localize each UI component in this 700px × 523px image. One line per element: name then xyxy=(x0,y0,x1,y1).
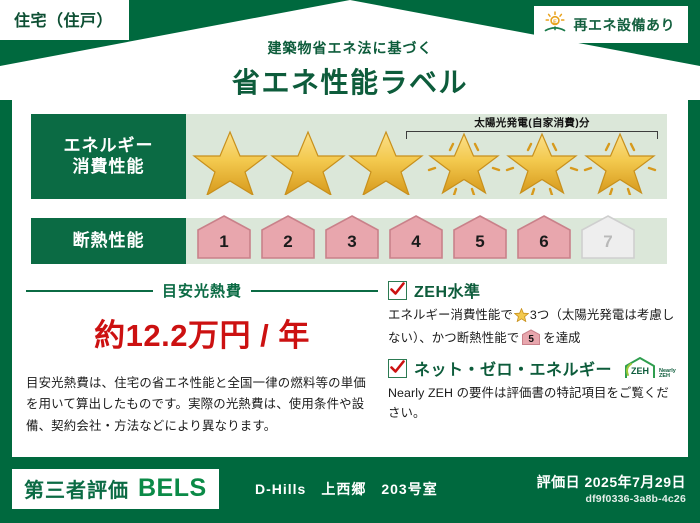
insulation-level-badge: 1 xyxy=(194,212,254,264)
bels-jp-label: 第三者評価 xyxy=(24,474,129,503)
energy-label-line2: 消費性能 xyxy=(73,157,145,178)
zeh-logo-sub2: ZEH xyxy=(659,373,670,379)
zeh-standard-header: ZEH水準 xyxy=(388,278,676,302)
net-zero-energy-body: Nearly ZEH の要件は評価書の特記項目をご覧ください。 xyxy=(388,383,676,423)
energy-label-line1: エネルギー xyxy=(64,136,154,157)
house-badge-icon-inline: 5 xyxy=(521,329,541,346)
zeh-body-part1: エネルギー消費性能で xyxy=(388,308,513,322)
svg-text:ZEH: ZEH xyxy=(631,366,649,376)
checkmark-icon xyxy=(388,281,407,300)
energy-star-track: 太陽光発電(自家消費)分 xyxy=(186,114,667,199)
star-icon xyxy=(348,125,426,197)
insulation-level-badge: 2 xyxy=(258,212,318,264)
energy-cost-column: 目安光熱費 約12.2万円 / 年 目安光熱費は、住宅の省エネ性能と全国一律の燃… xyxy=(26,278,378,437)
energy-performance-label: エネルギー 消費性能 xyxy=(31,114,186,199)
renewable-equipment-badge: E 再エネ設備あり xyxy=(534,6,689,43)
zeh-body-house-level: 5 xyxy=(521,332,541,348)
insulation-level-value: 1 xyxy=(194,232,254,252)
zeh-logo-subtext: Nearly ZEH xyxy=(659,369,676,381)
bels-certification-box: 第三者評価 BELS xyxy=(12,469,219,509)
insulation-performance-label: 断熱性能 xyxy=(31,218,186,264)
zeh-body-part3: を達成 xyxy=(543,331,580,345)
energy-cost-heading-text: 目安光熱費 xyxy=(162,280,242,301)
star-icon-solar xyxy=(504,125,582,197)
evaluation-date: 評価日 2025年7月29日 xyxy=(537,472,686,492)
energy-performance-row: エネルギー 消費性能 太陽光発電(自家消費)分 xyxy=(31,114,667,199)
insulation-level-value: 6 xyxy=(514,232,574,252)
zeh-standard-body: エネルギー消費性能で3つ（太陽光発電は考慮しない）、かつ断熱性能で5を達成 xyxy=(388,305,676,348)
insulation-levels: 1 2 3 4 5 xyxy=(194,212,638,264)
insulation-performance-row: 断熱性能 1 2 3 xyxy=(31,218,667,264)
insulation-level-value: 4 xyxy=(386,232,446,252)
zeh-standard-title: ZEH水準 xyxy=(414,278,481,302)
star-icon xyxy=(270,125,348,197)
insulation-level-track: 1 2 3 4 5 xyxy=(186,218,667,264)
certification-column: ZEH水準 エネルギー消費性能で3つ（太陽光発電は考慮しない）、かつ断熱性能で5… xyxy=(388,278,676,431)
building-name: D-Hills 上西郷 203号室 xyxy=(255,479,438,499)
svg-text:E: E xyxy=(553,19,557,25)
insulation-level-value: 7 xyxy=(578,232,638,252)
renewable-badge-label: 再エネ設備あり xyxy=(574,15,676,35)
label-title-block: 建築物省エネ法に基づく 省エネ性能ラベル xyxy=(0,38,700,101)
energy-cost-note: 目安光熱費は、住宅の省エネ性能と全国一律の燃料等の単価を用いて算出したものです。… xyxy=(26,373,378,437)
star-icon-inline xyxy=(514,308,529,328)
evaluation-id: df9f0336-3a8b-4c26 xyxy=(586,493,687,505)
net-zero-energy-title: ネット・ゼロ・エネルギー xyxy=(414,356,612,380)
details-section: 目安光熱費 約12.2万円 / 年 目安光熱費は、住宅の省エネ性能と全国一律の燃… xyxy=(12,278,688,457)
energy-performance-label: 住宅（住戸） E 再エネ設備あり 建築物省エネ法に基づく 省エネ性能ラベル xyxy=(0,0,700,523)
net-zero-energy-block: ネット・ゼロ・エネルギー ZEH Nearly ZEH xyxy=(388,356,676,423)
footer-bar: 第三者評価 BELS D-Hills 上西郷 203号室 評価日 2025年7月… xyxy=(0,463,700,523)
rule-left xyxy=(26,290,153,292)
insulation-level-value: 5 xyxy=(450,232,510,252)
bels-en-label: BELS xyxy=(138,474,207,503)
insulation-level-badge: 3 xyxy=(322,212,382,264)
insulation-level-badge-inactive: 7 xyxy=(578,212,638,264)
insulation-level-badge: 6 xyxy=(514,212,574,264)
energy-cost-value: 約12.2万円 / 年 xyxy=(26,310,378,355)
zeh-logo-icon: ZEH Nearly ZEH xyxy=(623,356,676,380)
zeh-standard-block: ZEH水準 エネルギー消費性能で3つ（太陽光発電は考慮しない）、かつ断熱性能で5… xyxy=(388,278,676,348)
rule-right xyxy=(251,290,378,292)
energy-cost-heading: 目安光熱費 xyxy=(26,280,378,301)
zeh-body-star-count: 3つ（太陽光発電 xyxy=(530,308,624,322)
net-zero-energy-header: ネット・ゼロ・エネルギー ZEH Nearly ZEH xyxy=(388,356,676,380)
star-icon xyxy=(192,125,270,197)
star-icon-solar xyxy=(582,125,660,197)
housing-type-tag: 住宅（住戸） xyxy=(0,0,129,40)
insulation-label-text: 断熱性能 xyxy=(73,231,145,252)
star-icon-solar xyxy=(426,125,504,197)
insulation-level-badge: 5 xyxy=(450,212,510,264)
sun-solar-icon: E xyxy=(543,11,567,38)
main-panel: エネルギー 消費性能 太陽光発電(自家消費)分 xyxy=(12,100,688,457)
insulation-level-badge: 4 xyxy=(386,212,446,264)
energy-stars xyxy=(192,125,660,197)
checkmark-icon xyxy=(388,359,407,378)
insulation-level-value: 2 xyxy=(258,232,318,252)
insulation-level-value: 3 xyxy=(322,232,382,252)
page-title: 省エネ性能ラベル xyxy=(0,61,700,101)
